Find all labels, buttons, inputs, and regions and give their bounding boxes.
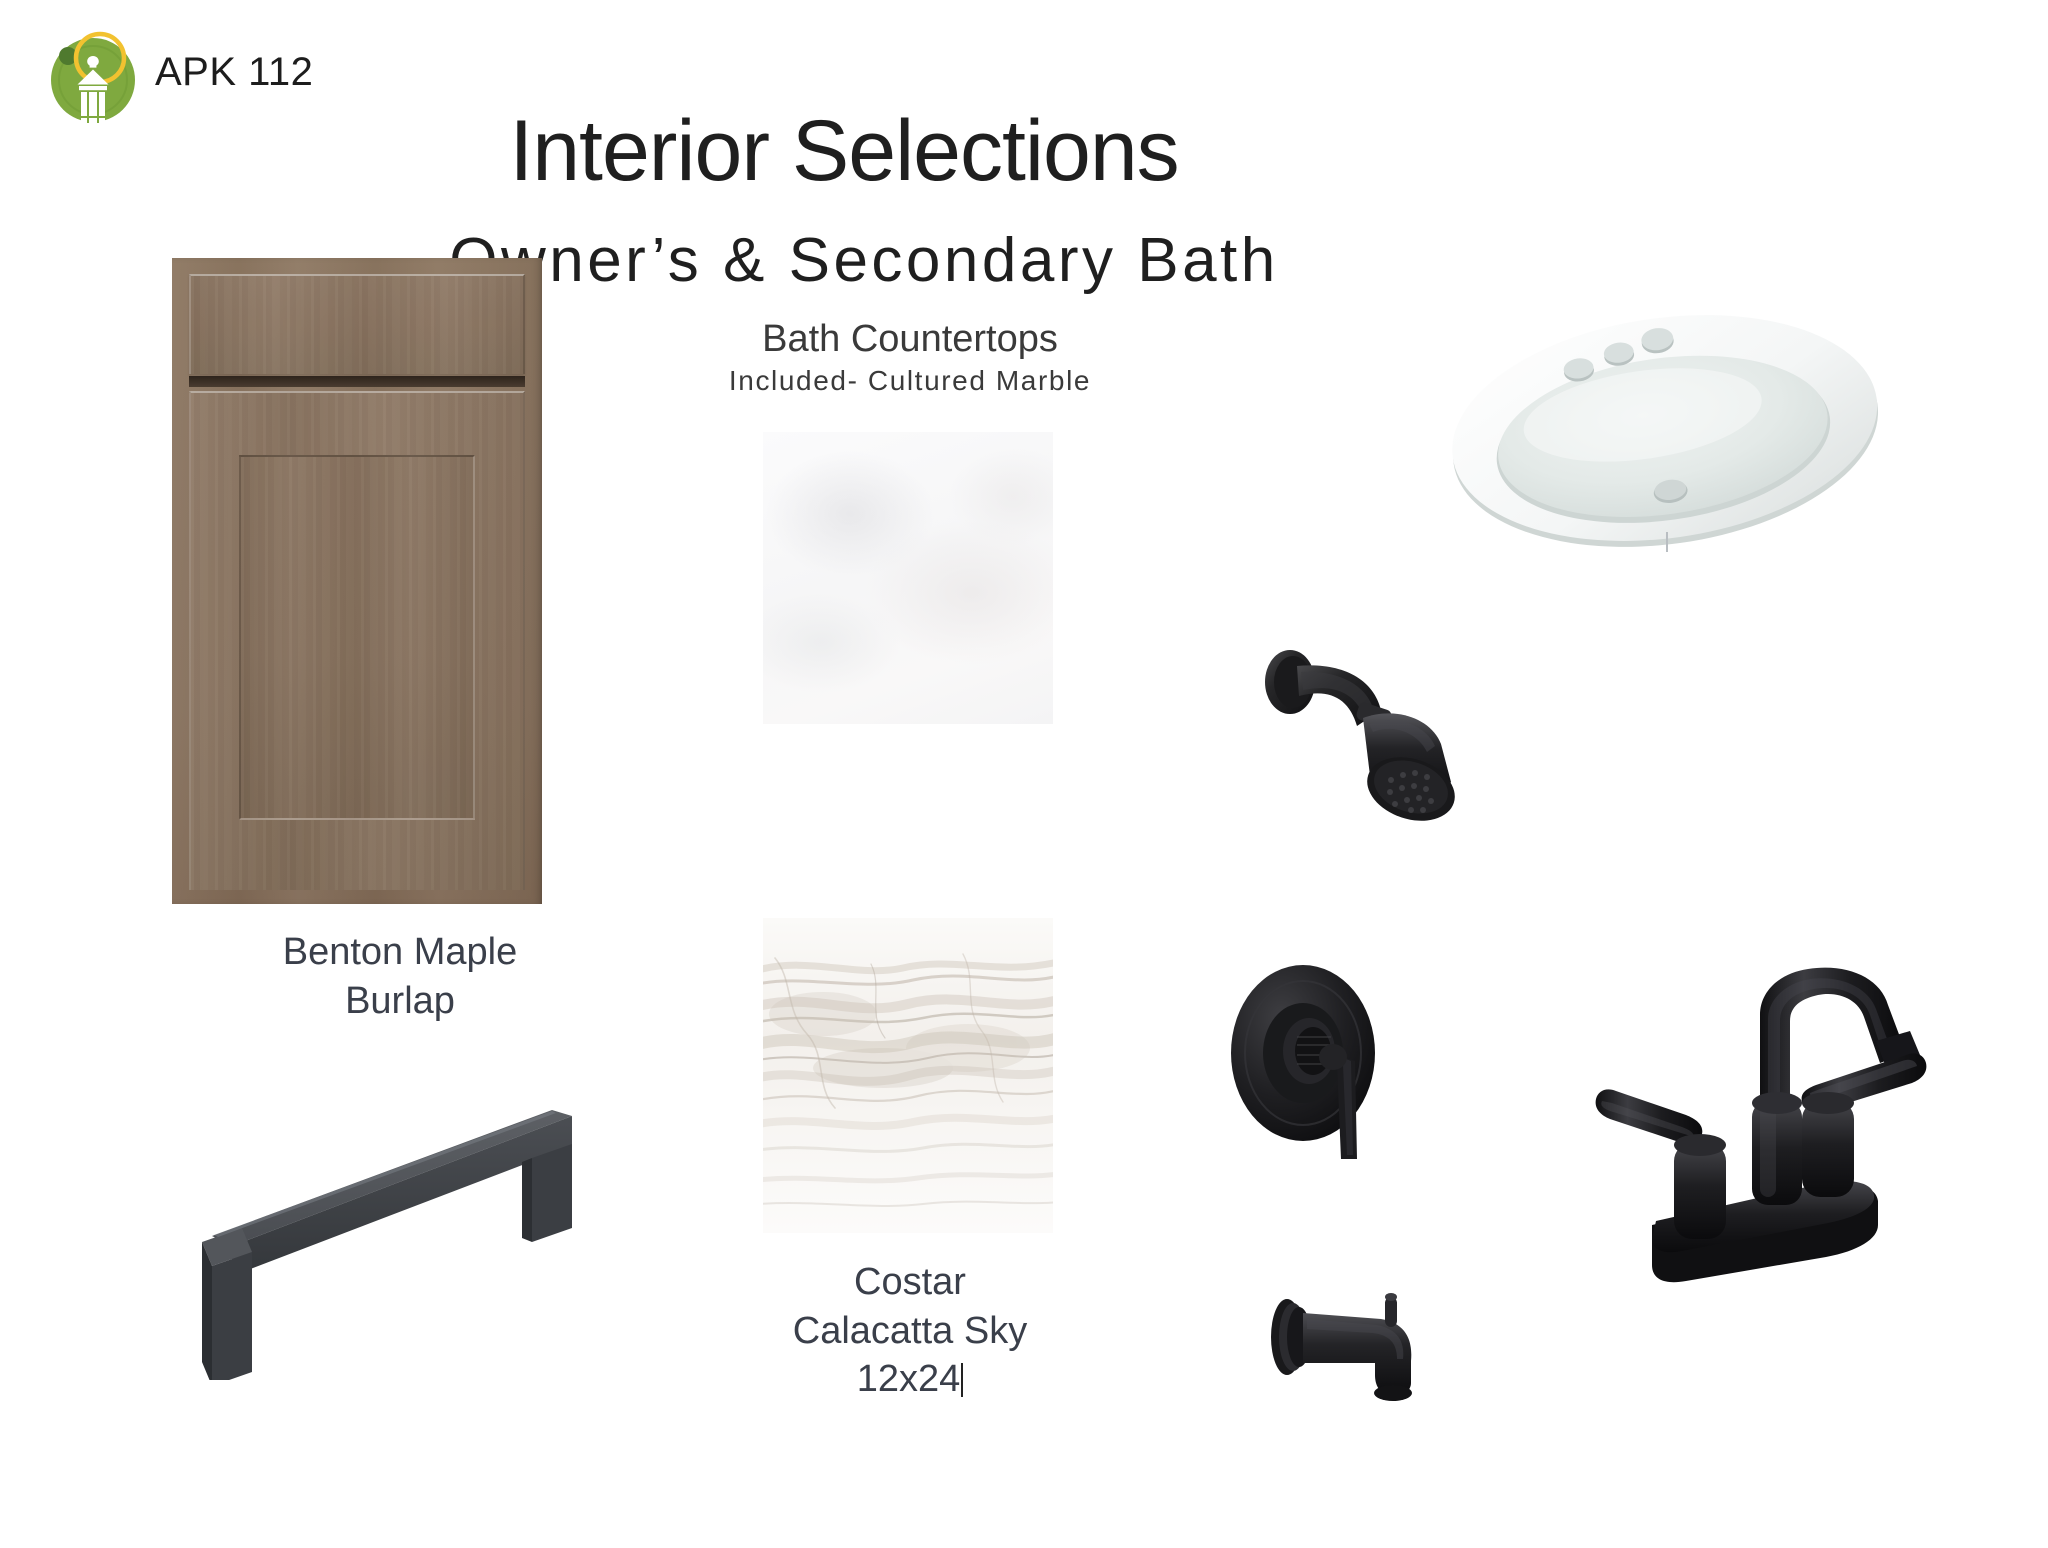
cabinet-door-swatch <box>172 258 542 904</box>
tile-caption-line1: Costar <box>854 1261 966 1303</box>
cabinet-pull <box>180 1090 610 1380</box>
tile-caption-line2: Calacatta Sky <box>793 1310 1027 1352</box>
page-subtitle-text: Owner’s & Secondary Bath <box>449 228 1279 293</box>
text-cursor <box>961 1363 963 1397</box>
cabinet-reveal-gap <box>189 376 525 387</box>
tile-caption-line3: 12x24 <box>857 1358 961 1400</box>
cabinet-center-panel <box>239 455 475 820</box>
cabinet-caption: Benton Maple Burlap <box>100 928 700 1025</box>
tub-spout <box>1255 1275 1505 1420</box>
page-title-text: Interior Selections <box>509 108 1178 196</box>
shower-head <box>1245 632 1545 847</box>
cabinet-drawer-front <box>189 274 525 374</box>
drop-in-oval-sink <box>1430 300 1900 560</box>
section-title: Bath Countertops <box>600 318 1220 361</box>
lavatory-faucet <box>1590 895 1990 1295</box>
logo-label: APK 112 <box>155 50 313 95</box>
cultured-marble-swatch <box>763 432 1053 724</box>
wood-grain-texture <box>191 276 523 374</box>
section-subtitle: Included- Cultured Marble <box>600 365 1220 397</box>
wall-tile-swatch <box>763 918 1053 1233</box>
wood-grain-texture <box>241 457 473 818</box>
cabinet-door-front <box>189 391 525 890</box>
page-title: Interior Selections <box>0 108 2048 196</box>
tile-caption: CostarCalacatta Sky12x24 <box>660 1258 1160 1404</box>
slide-canvas: APK 112 Interior Selections Owner’s & Se… <box>0 0 2048 1548</box>
shower-valve-trim <box>1205 945 1475 1165</box>
